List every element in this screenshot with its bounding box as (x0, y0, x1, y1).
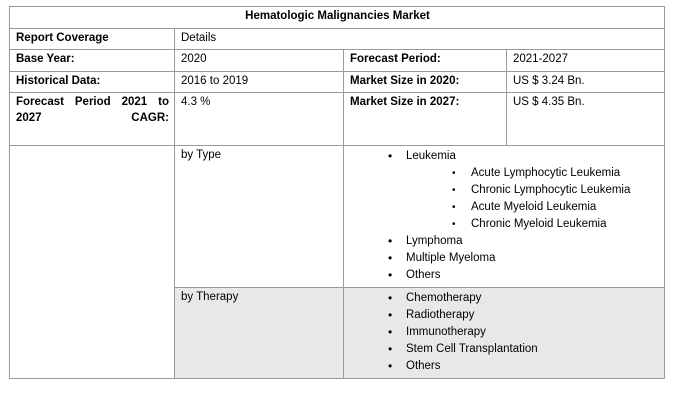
bullet-icon: • (388, 290, 392, 307)
segment-name-by-therapy: by Therapy (175, 287, 344, 378)
label-base-year: Base Year: (10, 50, 175, 72)
value-forecast-cagr: 4.3 % (175, 93, 344, 146)
list-item: • Chronic Myeloid Leukemia (452, 216, 659, 233)
segment-name-by-type: by Type (175, 145, 344, 287)
table-title-row: Hematologic Malignancies Market (10, 7, 665, 29)
table-row: Forecast Period 2021 to 2027 CAGR: 4.3 %… (10, 93, 665, 146)
value-base-year: 2020 (175, 50, 344, 72)
list-item: • Lymphoma (388, 233, 659, 250)
list-item-label: Multiple Myeloma (406, 252, 495, 264)
segment-spacer-cell (10, 145, 175, 378)
segment-row-by-type: by Type • Leukemia • Acute Lymphocytic L… (10, 145, 665, 287)
bullet-icon: • (388, 307, 392, 324)
segment-list-level2: • Acute Lymphocytic Leukemia • Chronic L… (406, 165, 659, 233)
list-item: • Others (388, 358, 659, 375)
bullet-icon: • (452, 199, 456, 216)
value-market-size-2020: US $ 3.24 Bn. (507, 71, 665, 93)
bullet-icon: • (452, 165, 456, 182)
segment-list-level1: • Leukemia • Acute Lymphocytic Leukemia … (350, 148, 659, 284)
list-item-label: Leukemia (406, 150, 456, 162)
list-item-label: Others (406, 269, 441, 281)
list-item-label: Others (406, 360, 441, 372)
bullet-icon: • (388, 250, 392, 267)
list-item-label: Stem Cell Transplantation (406, 343, 538, 355)
list-item: • Acute Lymphocytic Leukemia (452, 165, 659, 182)
bullet-icon: • (388, 324, 392, 341)
bullet-icon: • (452, 182, 456, 199)
bullet-icon: • (388, 148, 392, 165)
list-item-label: Immunotherapy (406, 326, 486, 338)
list-item: • Acute Myeloid Leukemia (452, 199, 659, 216)
bullet-icon: • (388, 358, 392, 375)
segment-list-by-therapy: • Chemotherapy • Radiotherapy • Immunoth… (344, 287, 665, 378)
label-market-size-2020: Market Size in 2020: (344, 71, 507, 93)
bullet-icon: • (452, 216, 456, 233)
market-summary-table-container: Hematologic Malignancies Market Report C… (9, 6, 664, 379)
label-forecast-period: Forecast Period: (344, 50, 507, 72)
label-forecast-cagr-text: Forecast Period 2021 to 2027 CAGR: (16, 95, 169, 142)
table-header-row: Report Coverage Details (10, 28, 665, 50)
hematologic-malignancies-market-table: Hematologic Malignancies Market Report C… (9, 6, 665, 379)
list-item: • Leukemia • Acute Lymphocytic Leukemia … (388, 148, 659, 233)
list-item-label: Lymphoma (406, 235, 462, 247)
value-historical-data: 2016 to 2019 (175, 71, 344, 93)
list-item: • Chronic Lymphocytic Leukemia (452, 182, 659, 199)
list-item: • Stem Cell Transplantation (388, 341, 659, 358)
list-item: • Others (388, 267, 659, 284)
value-market-size-2027: US $ 4.35 Bn. (507, 93, 665, 146)
list-item-label: Chemotherapy (406, 292, 481, 304)
segment-list-by-type: • Leukemia • Acute Lymphocytic Leukemia … (344, 145, 665, 287)
header-report-coverage: Report Coverage (10, 28, 175, 50)
bullet-icon: • (388, 233, 392, 250)
list-item: • Chemotherapy (388, 290, 659, 307)
table-row: Base Year: 2020 Forecast Period: 2021-20… (10, 50, 665, 72)
header-details: Details (175, 28, 665, 50)
list-item-label: Chronic Lymphocytic Leukemia (471, 184, 630, 196)
list-item-label: Chronic Myeloid Leukemia (471, 218, 607, 230)
label-historical-data: Historical Data: (10, 71, 175, 93)
label-forecast-cagr: Forecast Period 2021 to 2027 CAGR: (10, 93, 175, 146)
list-item-label: Radiotherapy (406, 309, 474, 321)
list-item: • Radiotherapy (388, 307, 659, 324)
list-item: • Multiple Myeloma (388, 250, 659, 267)
value-forecast-period: 2021-2027 (507, 50, 665, 72)
list-item-label: Acute Lymphocytic Leukemia (471, 167, 620, 179)
segment-list-level1: • Chemotherapy • Radiotherapy • Immunoth… (350, 290, 659, 375)
bullet-icon: • (388, 267, 392, 284)
label-market-size-2027: Market Size in 2027: (344, 93, 507, 146)
list-item: • Immunotherapy (388, 324, 659, 341)
list-item-label: Acute Myeloid Leukemia (471, 201, 596, 213)
table-row: Historical Data: 2016 to 2019 Market Siz… (10, 71, 665, 93)
bullet-icon: • (388, 341, 392, 358)
table-title: Hematologic Malignancies Market (10, 7, 665, 29)
